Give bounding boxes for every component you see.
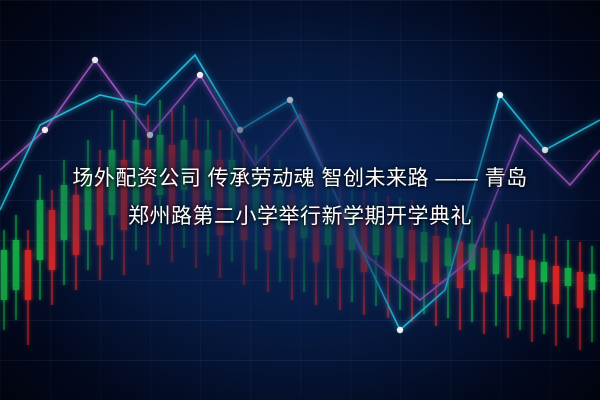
candle-body	[529, 260, 535, 300]
thumbnail-image: 场外配资公司 传承劳动魂 智创未来路 —— 青岛 郑州路第二小学举行新学期开学典…	[0, 0, 600, 400]
candle-body	[433, 236, 439, 284]
candle-body	[541, 262, 547, 282]
candle-body	[457, 242, 463, 288]
candle-body	[13, 240, 19, 290]
data-point-marker	[237, 127, 243, 133]
candle-body	[25, 250, 31, 300]
candle-body	[481, 248, 487, 292]
candle-body	[445, 238, 451, 266]
candle-body	[409, 230, 415, 280]
data-point-marker	[197, 72, 203, 78]
data-point-marker	[92, 57, 98, 63]
data-point-marker	[497, 92, 503, 98]
headline-line-2: 郑州路第二小学举行新学期开学典礼	[22, 198, 578, 236]
candle-body	[553, 266, 559, 304]
headline-text: 场外配资公司 传承劳动魂 智创未来路 —— 青岛 郑州路第二小学举行新学期开学典…	[0, 160, 600, 236]
candle-body	[589, 274, 595, 290]
data-point-marker	[147, 132, 153, 138]
data-point-marker	[287, 97, 293, 103]
candle-body	[1, 250, 7, 300]
data-point-marker	[42, 127, 48, 133]
headline-line-1: 场外配资公司 传承劳动魂 智创未来路 —— 青岛	[22, 160, 578, 198]
candle-body	[505, 254, 511, 296]
candle-body	[493, 250, 499, 274]
candle-body	[577, 272, 583, 308]
candle-body	[517, 256, 523, 278]
data-point-marker	[397, 327, 403, 333]
candle-body	[565, 268, 571, 286]
candle-body	[421, 232, 427, 262]
data-point-marker	[542, 147, 548, 153]
